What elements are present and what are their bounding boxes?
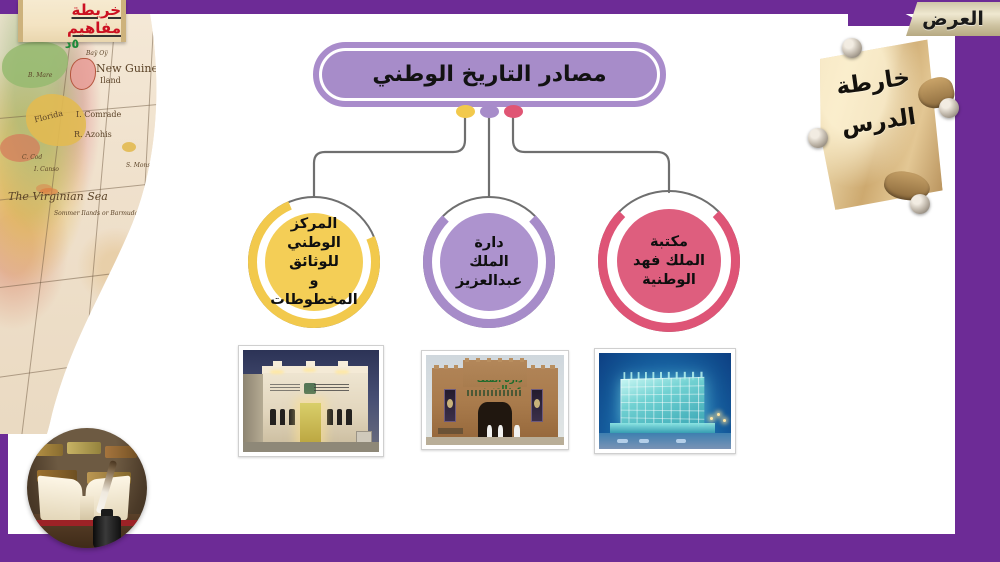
scroll-label-line2: الدرس bbox=[840, 104, 918, 140]
node-label-line3: و المخطوطات bbox=[270, 273, 357, 308]
frame-bottom-bar bbox=[0, 534, 1000, 562]
node-disc: المركز الوطني للوثائق و المخطوطات bbox=[265, 213, 363, 311]
bookshelf-row bbox=[105, 446, 137, 458]
photo1-side-wall bbox=[243, 374, 263, 452]
photo1-sign-arabic bbox=[270, 384, 300, 393]
node-label-line2: الوطني للوثائق bbox=[287, 235, 341, 270]
scroll-label-line1: خارطة bbox=[835, 64, 912, 100]
concept-map-title: مصادر التاريخ الوطني bbox=[372, 62, 606, 87]
photo1-ground bbox=[243, 442, 379, 452]
photo1-sign-english bbox=[314, 384, 349, 393]
photo2-sign-english bbox=[467, 390, 522, 396]
photo2-bench bbox=[438, 428, 463, 434]
photo2-merlon bbox=[498, 358, 502, 362]
concept-map-badge: خريطة مفاهيم ٥د bbox=[18, 0, 126, 42]
photo2-banner-medallion bbox=[534, 399, 540, 408]
photo2-ground bbox=[426, 437, 564, 445]
concept-map-title-bubble: مصادر التاريخ الوطني bbox=[313, 42, 666, 107]
photo2-banner bbox=[531, 389, 543, 421]
node-label: المركز الوطني للوثائق و المخطوطات bbox=[265, 215, 363, 310]
photo-king-fahd-national-library[interactable] bbox=[594, 348, 736, 454]
photo2-merlon bbox=[434, 365, 438, 369]
connector-dot-yellow bbox=[456, 105, 475, 118]
open-book-icon bbox=[27, 428, 147, 548]
photo1-window bbox=[270, 409, 275, 425]
bookshelf-row bbox=[67, 442, 101, 454]
title-bubble-fill: مصادر التاريخ الوطني bbox=[322, 51, 657, 98]
scroll-knob-top-left bbox=[842, 38, 862, 58]
slide-root: New Guinea Iland The Virginian Sea Somme… bbox=[0, 0, 1000, 562]
node-label-line1: دارة bbox=[474, 235, 503, 251]
map-landmass-orange bbox=[0, 134, 40, 162]
node-label: مكتبة الملك فهد الوطنية bbox=[629, 233, 709, 290]
photo2-merlon bbox=[444, 365, 448, 369]
photo2-banner bbox=[444, 389, 456, 421]
node-label: دارة الملك عبدالعزيز bbox=[452, 234, 526, 291]
photo1-window bbox=[337, 409, 342, 425]
photo-content bbox=[599, 353, 731, 449]
node-label-line3: الوطنية bbox=[642, 272, 696, 288]
photo3-street-light bbox=[723, 419, 726, 422]
node-label-line2: الملك bbox=[469, 254, 509, 270]
photo3-facade-grid bbox=[621, 377, 705, 427]
scroll-label: خارطة الدرس bbox=[815, 55, 941, 180]
map-island bbox=[122, 142, 136, 152]
book-cover-band bbox=[35, 520, 139, 526]
photo3-street-light bbox=[710, 417, 713, 420]
scroll-knob-bottom-right bbox=[910, 194, 930, 214]
photo3-vehicle bbox=[639, 439, 650, 443]
photo1-window bbox=[289, 409, 294, 425]
photo1-window bbox=[346, 409, 351, 425]
photo-national-documents-center[interactable] bbox=[238, 345, 384, 457]
photo2-merlon bbox=[465, 358, 469, 362]
photo2-banner-medallion bbox=[447, 399, 453, 408]
photo-darah-king-abdulaziz[interactable]: دارة الملك عبدالعزيز bbox=[421, 350, 569, 450]
photo3-vehicle bbox=[617, 439, 628, 443]
photo1-window bbox=[280, 409, 285, 425]
photo2-merlon bbox=[550, 365, 554, 369]
frame-right-bar bbox=[955, 0, 1000, 562]
photo2-merlon bbox=[541, 365, 545, 369]
concept-map-badge-title: خريطة مفاهيم bbox=[23, 1, 121, 37]
photo2-merlon bbox=[454, 365, 458, 369]
node-label-line1: المركز bbox=[291, 216, 338, 232]
bookshelf-row bbox=[33, 444, 63, 456]
node-disc: مكتبة الملك فهد الوطنية bbox=[617, 209, 721, 313]
photo3-vehicle bbox=[676, 439, 687, 443]
photo1-merlon bbox=[306, 361, 316, 367]
node-label-line2: الملك فهد bbox=[633, 253, 705, 269]
book-page-left bbox=[38, 475, 85, 524]
photo2-merlon bbox=[531, 365, 535, 369]
section-ribbon: العرض bbox=[848, 0, 1000, 40]
photo2-sign-arabic: دارة الملك عبدالعزيز bbox=[467, 380, 522, 389]
connector-dot-pink bbox=[504, 105, 523, 118]
node-disc: دارة الملك عبدالعزيز bbox=[440, 213, 538, 311]
photo2-merlon bbox=[487, 358, 491, 362]
photo2-entrance-arch bbox=[478, 402, 511, 442]
photo1-merlon bbox=[273, 361, 283, 367]
lesson-map-scroll[interactable]: خارطة الدرس bbox=[806, 36, 958, 216]
photo3-glass-facade bbox=[621, 377, 705, 427]
photo2-merlon bbox=[520, 358, 524, 362]
photo1-window bbox=[327, 409, 332, 425]
concept-map-badge-duration: ٥د bbox=[65, 37, 80, 52]
photo-content bbox=[243, 350, 379, 452]
connector-dot-purple bbox=[480, 105, 499, 118]
node-label-line1: مكتبة bbox=[650, 234, 688, 250]
node-national-documents-center[interactable]: المركز الوطني للوثائق و المخطوطات bbox=[248, 196, 380, 328]
node-king-fahd-national-library[interactable]: مكتبة الملك فهد الوطنية bbox=[598, 190, 740, 332]
ribbon-label: العرض bbox=[906, 2, 1000, 36]
inkwell-icon bbox=[93, 516, 121, 548]
scroll-knob-top-right bbox=[939, 98, 959, 118]
node-darah-king-abdulaziz[interactable]: دارة الملك عبدالعزيز bbox=[423, 196, 555, 328]
photo2-merlon bbox=[476, 358, 480, 362]
node-label-line3: عبدالعزيز bbox=[456, 273, 522, 289]
photo-content: دارة الملك عبدالعزيز bbox=[426, 355, 564, 445]
map-island bbox=[40, 188, 58, 195]
ribbon-notch-shape bbox=[968, 36, 1000, 50]
photo1-merlon bbox=[338, 361, 348, 367]
photo2-merlon bbox=[509, 358, 513, 362]
